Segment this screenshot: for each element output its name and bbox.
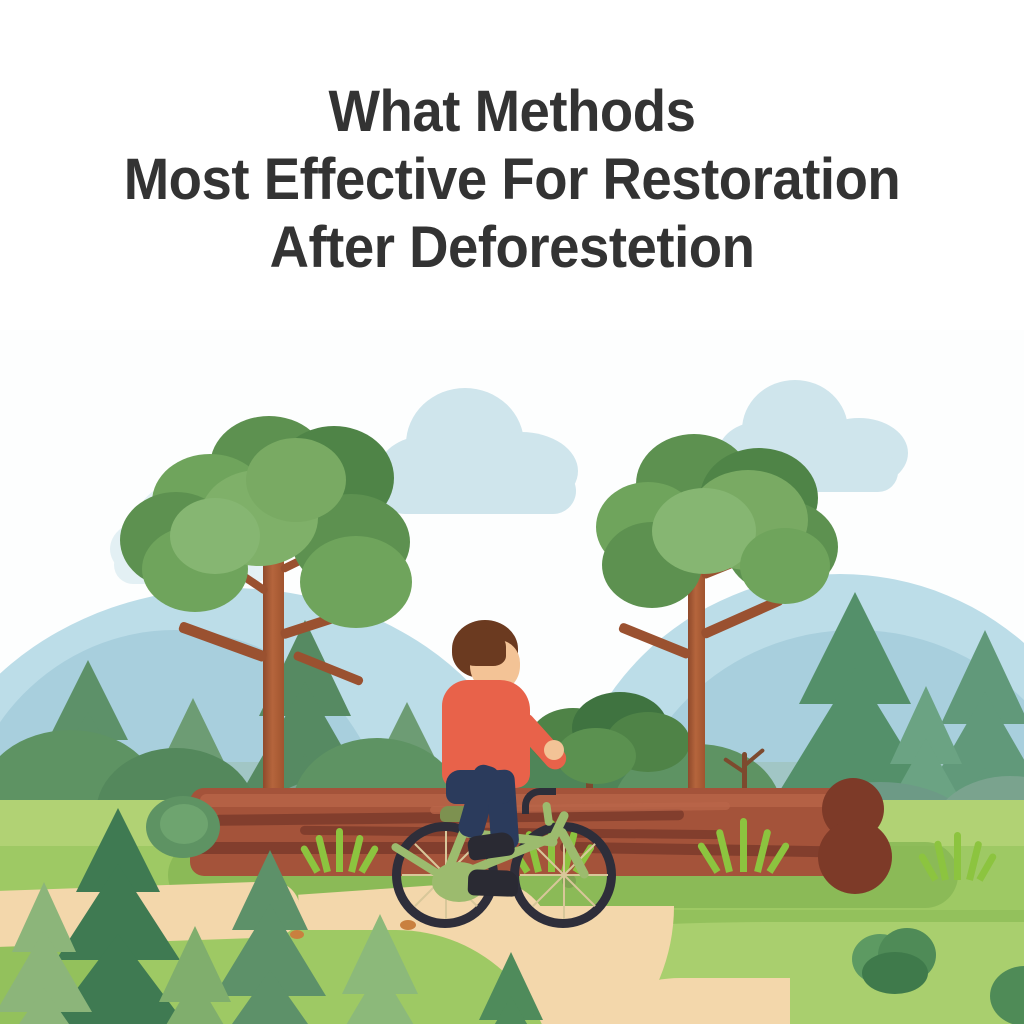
title-line-3: After Deforestetion <box>31 214 994 282</box>
conifer-fg-4 <box>110 926 280 1024</box>
tree-right-canopy-8 <box>740 528 830 604</box>
log-cut-end-lower <box>818 820 892 894</box>
tree-left-canopy-10 <box>170 498 260 574</box>
cyclist-shoe-far <box>467 831 516 861</box>
title-line-1: What Methods <box>31 78 994 146</box>
bush-bottom-right-c <box>862 952 928 994</box>
poster-title: What Methods Most Effective For Restorat… <box>0 78 1024 282</box>
conifer-fg-6 <box>436 952 586 1024</box>
grass-tuft-4 <box>930 830 988 880</box>
cyclist-hip <box>446 770 512 804</box>
cyclist-hair-fringe <box>456 628 506 666</box>
title-line-2: Most Effective For Restoration <box>31 146 994 214</box>
tree-left-canopy-9 <box>246 438 346 522</box>
conifer-fg-2 <box>0 882 114 1024</box>
poster-canvas: What Methods Most Effective For Restorat… <box>0 0 1024 1024</box>
cyclist-hand <box>544 740 564 760</box>
tree-left-canopy-7 <box>300 536 412 628</box>
cyclist-shoe-near <box>468 869 519 897</box>
illustration-scene <box>0 330 1024 1024</box>
cyclist <box>420 620 600 910</box>
cloud-left <box>378 388 588 478</box>
grass-tuft-3 <box>712 816 778 872</box>
